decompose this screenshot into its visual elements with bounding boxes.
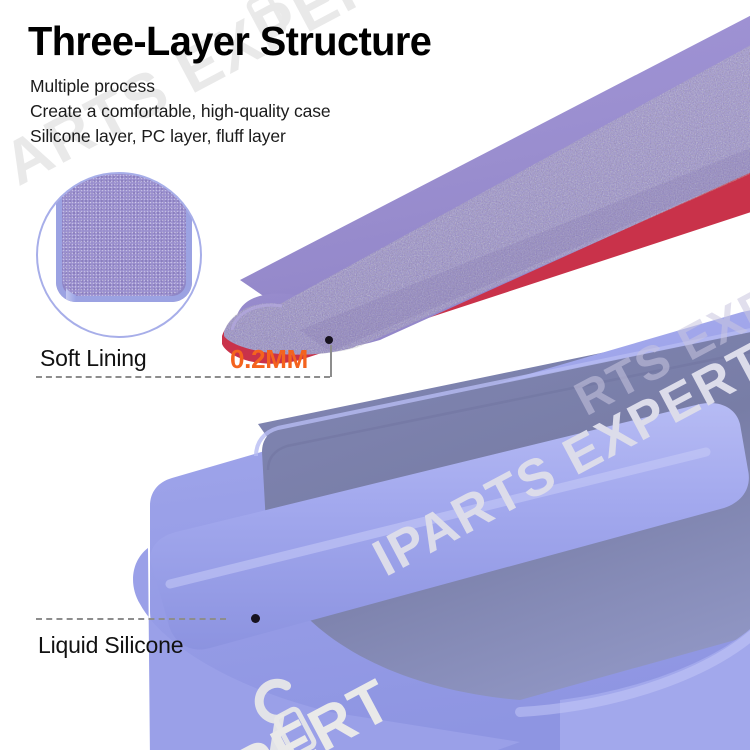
liquid-silicone-anchor-dot — [251, 614, 260, 623]
thickness-label: 0.2MM — [230, 344, 308, 375]
watermark-bottom: EXPERT — [149, 665, 404, 750]
feature-line-2: Create a comfortable, high-quality case — [30, 101, 331, 122]
thickness-bracket — [330, 345, 332, 377]
liquid-silicone-case-group — [133, 300, 750, 750]
zoom-fluff-patch — [56, 172, 192, 302]
feature-line-3: Silicone layer, PC layer, fluff layer — [30, 126, 286, 147]
liquid-silicone-leader-line — [36, 618, 226, 620]
infographic-canvas: ARTS EXPERT — [0, 0, 750, 750]
watermark-phone-icon-bottom — [262, 698, 332, 750]
soft-lining-zoom-circle — [36, 172, 202, 338]
liquid-silicone-label: Liquid Silicone — [38, 632, 183, 659]
feature-line-1: Multiple process — [30, 76, 155, 97]
watermark-middle: IPARTS EXPERT — [363, 331, 750, 588]
soft-lining-anchor-dot — [325, 336, 333, 344]
page-title: Three-Layer Structure — [28, 18, 431, 65]
watermark-right: RTS EXPERT — [566, 228, 750, 427]
soft-lining-leader-line — [36, 376, 330, 378]
soft-lining-label: Soft Lining — [40, 345, 147, 372]
watermark-wrench-icon — [228, 672, 348, 750]
zoom-silicone-rim — [66, 172, 76, 302]
